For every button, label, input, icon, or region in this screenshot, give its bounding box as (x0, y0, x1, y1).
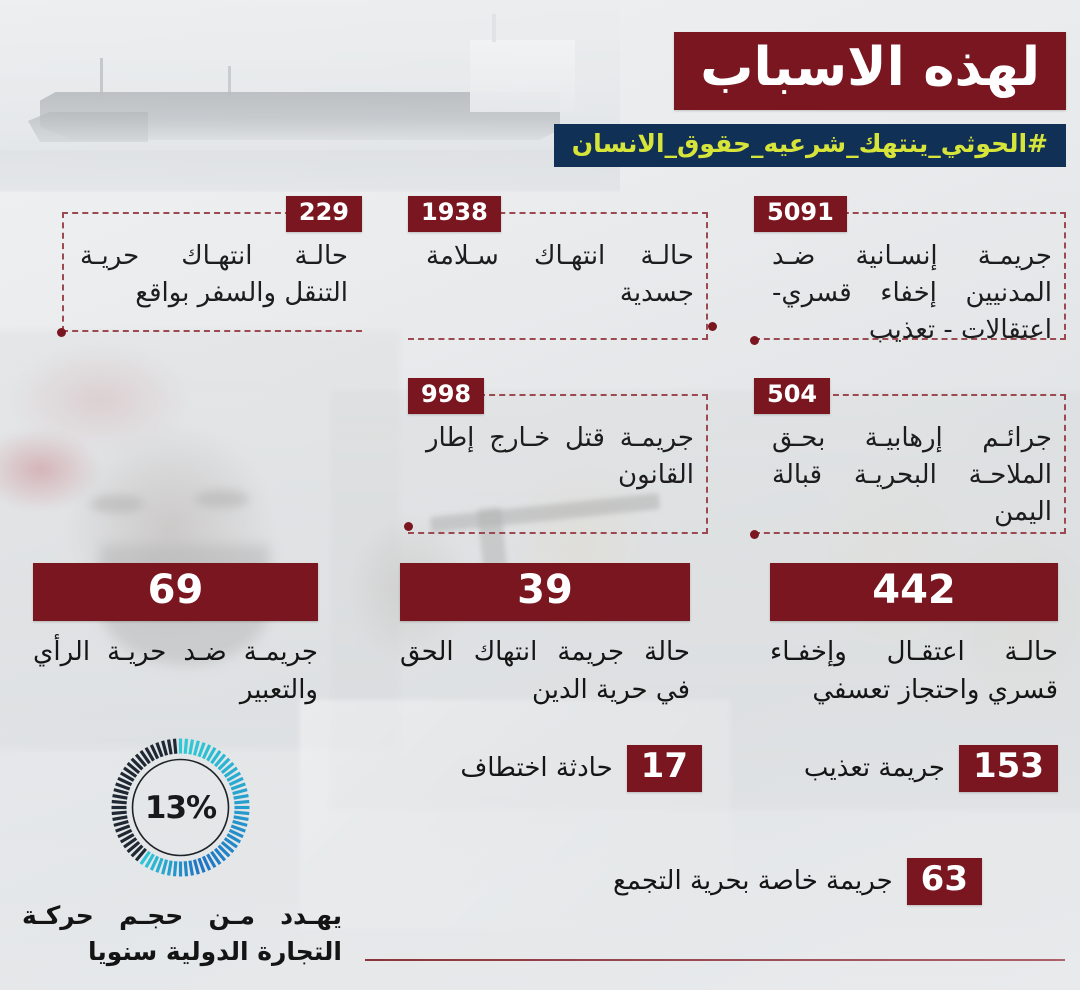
stat-card-504: 504 جرائـم إرهابيـة بحـق الملاحـة البحري… (754, 394, 1066, 534)
stat-card-5091: 5091 جريمـة إنسـانية ضـد المدنيين إخفاء … (754, 212, 1066, 340)
big-stat-label: حالـة اعتقـال وإخفـاء قسري واحتجاز تعسفي (770, 634, 1058, 709)
inline-stat-63: 63 جريمة خاصة بحرية التجمع (613, 858, 982, 905)
stat-label: حالـة انتهـاك سـلامة جسدية (426, 238, 694, 312)
stat-badge: 5091 (754, 196, 847, 232)
hashtag-banner: #الحوثي_ينتهك_شرعيه_حقوق_الانسان (554, 124, 1066, 167)
stat-label: جريمـة إنسـانية ضـد المدنيين إخفاء قسري-… (772, 238, 1052, 349)
big-stat-442: 442 حالـة اعتقـال وإخفـاء قسري واحتجاز ت… (770, 563, 1058, 709)
big-stat-value: 39 (400, 563, 690, 621)
gauge-caption: يهـدد مـن حجـم حركـة التجارة الدولية سنو… (22, 898, 342, 969)
inline-stat-value: 153 (959, 745, 1058, 792)
big-stat-value: 442 (770, 563, 1058, 621)
big-stat-69: 69 جريمـة ضـد حريـة الرأي والتعبير (33, 563, 318, 709)
trade-percent-gauge: 13% (108, 735, 253, 880)
gauge-percent-label: 13% (108, 735, 253, 880)
inline-stat-label: جريمة تعذيب (804, 753, 945, 783)
inline-stat-label: حادثة اختطاف (460, 753, 612, 783)
end-dot (750, 530, 759, 539)
inline-stat-value: 63 (907, 858, 982, 905)
inline-stat-label: جريمة خاصة بحرية التجمع (613, 866, 893, 896)
inline-stat-153: 153 جريمة تعذيب (804, 745, 1058, 792)
stat-card-229: 229 حالـة انتهـاك حريـة التنقل والسفر بو… (62, 212, 362, 332)
stat-label: جرائـم إرهابيـة بحـق الملاحـة البحريـة ق… (772, 420, 1052, 531)
inline-stat-17: 17 حادثة اختطاف (460, 745, 702, 792)
big-stat-value: 69 (33, 563, 318, 621)
end-dot (750, 336, 759, 345)
bottom-divider (365, 959, 1065, 961)
stat-badge: 504 (754, 378, 830, 414)
stat-badge: 229 (286, 196, 362, 232)
inline-stat-value: 17 (627, 745, 702, 792)
stat-card-1938: 1938 حالـة انتهـاك سـلامة جسدية (408, 212, 708, 340)
big-stat-label: جريمـة ضـد حريـة الرأي والتعبير (33, 634, 318, 709)
end-dot (708, 322, 717, 331)
page-title: لهذه الاسباب (674, 32, 1066, 110)
stat-label: جريمـة قتل خـارج إطار القانون (426, 420, 694, 494)
end-dot (404, 522, 413, 531)
big-stat-label: حالة جريمة انتهاك الحق في حرية الدين (400, 634, 690, 709)
stat-label: حالـة انتهـاك حريـة التنقل والسفر بواقع (80, 238, 348, 312)
stat-badge: 1938 (408, 196, 501, 232)
infographic-canvas: لهذه الاسباب #الحوثي_ينتهك_شرعيه_حقوق_ال… (0, 0, 1080, 990)
stat-card-998: 998 جريمـة قتل خـارج إطار القانون (408, 394, 708, 534)
stat-badge: 998 (408, 378, 484, 414)
big-stat-39: 39 حالة جريمة انتهاك الحق في حرية الدين (400, 563, 690, 709)
end-dot (57, 328, 66, 337)
